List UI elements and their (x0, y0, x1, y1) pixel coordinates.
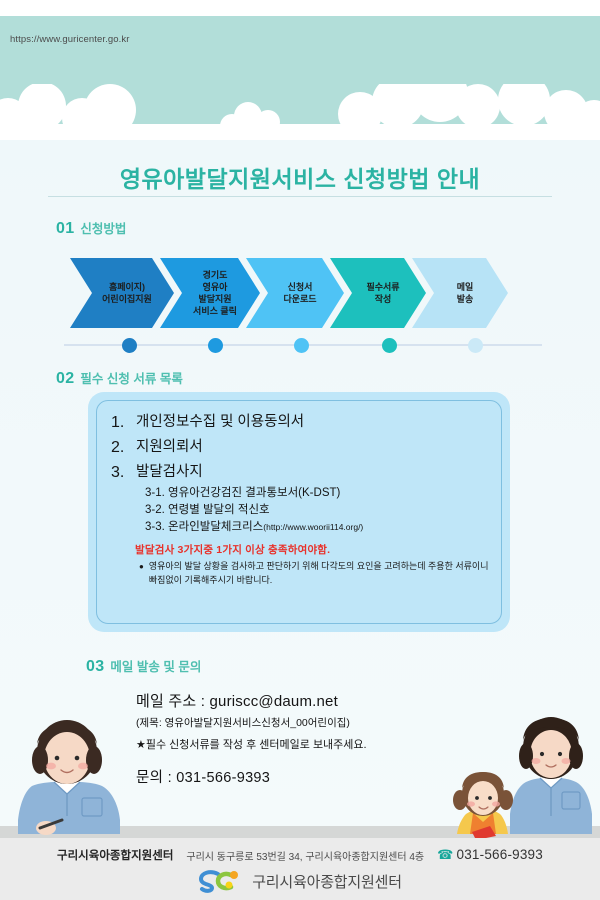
email-subject-format: (제목: 영유아발달지원서비스신청서_00어린이집) (136, 715, 466, 730)
document-text-2: 지원의뢰서 (136, 438, 203, 456)
section-label-03: 메일 발송 및 문의 (110, 656, 201, 675)
section-heading-02: 02 필수 신청 서류 목록 (56, 368, 183, 388)
section-heading-03: 03 메일 발송 및 문의 (86, 656, 201, 676)
sub-item-label-2: 3-2. (145, 504, 165, 516)
inquiry-line: 문의 : 031-566-9393 (136, 766, 466, 787)
document-list-item: 3. 발달검사지 (111, 463, 491, 483)
requirement-warning: 발달검사 3가지중 1가지 이상 충족하여야함. (135, 542, 491, 557)
section-label-01: 신청방법 (80, 218, 126, 237)
illustration-woman-writing (10, 716, 128, 848)
contact-block: 메일 주소 : guriscc@daum.net (제목: 영유아발달지원서비스… (136, 690, 466, 787)
email-label: 메일 주소 : (136, 693, 209, 710)
documents-box-inner: 1. 개인정보수집 및 이용동의서 2. 지원의뢰서 3. 발달검사지 3-1.… (96, 400, 502, 624)
sub-item-label-1: 3-1. (145, 487, 165, 499)
step-label-4: 필수서류 작성 (352, 281, 403, 305)
document-list-item: 1. 개인정보수집 및 이용동의서 (111, 413, 491, 433)
cloud-band-icon (0, 84, 600, 140)
document-number-3: 3. (111, 463, 129, 483)
step-chevron-1[interactable]: 홈페이지) 어린이집지원 (70, 258, 174, 328)
document-text-1: 개인정보수집 및 이용동의서 (136, 413, 304, 431)
step-label-3: 신청서 다운로드 (269, 281, 320, 305)
process-steps: 홈페이지) 어린이집지원 경기도 영유아 발달지원 서비스 클릭 신청서 다운로… (70, 258, 536, 328)
document-list-item: 2. 지원의뢰서 (111, 438, 491, 458)
document-text-3: 발달검사지 (136, 463, 203, 481)
footer-logo-row: 구리시육아종합지원센터 (0, 869, 600, 893)
footer-phone-number: 031-566-9393 (457, 847, 543, 862)
footer-organization: 구리시육아종합지원센터 (57, 847, 173, 863)
sub-item-label-3: 3-3. (145, 521, 165, 533)
section-number-02: 02 (56, 370, 74, 388)
step-chevron-5[interactable]: 메일 발송 (412, 258, 508, 328)
step-chevron-3[interactable]: 신청서 다운로드 (246, 258, 344, 328)
timeline-dot-5 (468, 338, 483, 353)
section-number-03: 03 (86, 658, 104, 676)
documents-box: 1. 개인정보수집 및 이용동의서 2. 지원의뢰서 3. 발달검사지 3-1.… (88, 392, 510, 632)
website-url: https://www.guricenter.go.kr (10, 34, 130, 45)
step-label-5: 메일 발송 (443, 281, 478, 305)
email-line: 메일 주소 : guriscc@daum.net (136, 690, 466, 711)
submission-instruction: ★필수 신청서류를 작성 후 센터메일로 보내주세요. (136, 736, 466, 752)
step-label-2: 경기도 영유아 발달지원 서비스 클릭 (179, 269, 241, 318)
section-label-02: 필수 신청 서류 목록 (80, 368, 182, 387)
page-title: 영유아발달지원서비스 신청방법 안내 (0, 160, 600, 194)
section-number-01: 01 (56, 220, 74, 238)
bullet-icon: ● (139, 560, 144, 588)
sub-item-text-2: 연령별 발달의 적신호 (168, 504, 270, 516)
footer-contact-row: 구리시육아종합지원센터 구리시 동구릉로 53번길 34, 구리시육아종합지원센… (0, 847, 600, 863)
timeline-dot-1 (122, 338, 137, 353)
timeline-dot-2 (208, 338, 223, 353)
footer-address: 구리시 동구릉로 53번길 34, 구리시육아종합지원센터 4층 (186, 848, 424, 863)
inquiry-number: 031-566-9393 (176, 770, 270, 786)
footer-phone-line: ☎031-566-9393 (437, 847, 543, 863)
document-sub-item-1: 3-1. 영유아건강검진 결과통보서(K-DST) (145, 485, 491, 501)
timeline-dot-4 (382, 338, 397, 353)
poster-root: https://www.guricenter.go.kr 영유아발달지원서비스 … (0, 0, 600, 900)
step-chevron-2[interactable]: 경기도 영유아 발달지원 서비스 클릭 (160, 258, 260, 328)
footer-logo-name: 구리시육아종합지원센터 (252, 871, 402, 892)
center-logo-icon (198, 869, 244, 893)
inquiry-label: 문의 : (136, 770, 176, 786)
step-label-1: 홈페이지) 어린이집지원 (88, 281, 156, 305)
sub-item-text-3: 온라인발달체크리스 (168, 521, 263, 533)
sub-item-text-1: 영유아건강검진 결과통보서(K-DST) (168, 487, 340, 499)
sub-item-url-3[interactable]: (http://www.woorii114.org/) (263, 522, 363, 532)
document-sub-item-2: 3-2. 연령별 발달의 적신호 (145, 502, 491, 518)
step-chevron-4[interactable]: 필수서류 작성 (330, 258, 426, 328)
footer-bar: 구리시육아종합지원센터 구리시 동구릉로 53번길 34, 구리시육아종합지원센… (0, 838, 600, 900)
document-number-1: 1. (111, 413, 129, 433)
document-number-2: 2. (111, 438, 129, 458)
documents-note-text: 영유아의 발달 상황을 검사하고 판단하기 위해 다각도의 요인을 고려하는데 … (149, 560, 491, 588)
section-heading-01: 01 신청방법 (56, 218, 126, 238)
email-address[interactable]: guriscc@daum.net (209, 693, 337, 710)
documents-note: ● 영유아의 발달 상황을 검사하고 판단하기 위해 다각도의 요인을 고려하는… (139, 560, 491, 588)
title-divider (48, 196, 552, 197)
phone-icon: ☎ (437, 847, 453, 862)
illustration-mother-and-child (446, 708, 596, 848)
document-sub-item-3: 3-3. 온라인발달체크리스(http://www.woorii114.org/… (145, 519, 491, 535)
timeline-dot-3 (294, 338, 309, 353)
